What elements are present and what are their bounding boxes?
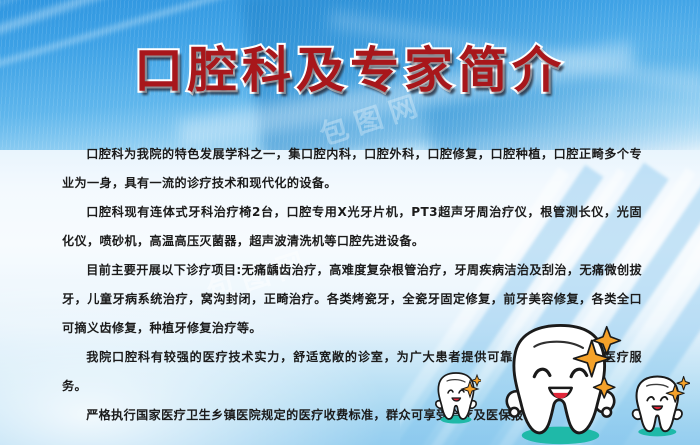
page-title: 口腔科及专家简介 [0,40,700,100]
poster-canvas: 包图网 包图网 口腔科及专家简介 口腔科及专家简介 口腔科为我院的特色发展学科之… [0,0,700,445]
big-tooth-center-icon [498,318,623,445]
paragraph-2: 口腔科现有连体式牙科治疗椅2台，口腔专用X光牙片机，PT3超声牙周治疗仪，根管测… [62,198,642,256]
small-tooth-left-icon [431,369,481,425]
small-tooth-right-icon [628,372,690,438]
paragraph-1: 口腔科为我院的特色发展学科之一，集口腔内科，口腔外科，口腔修复，口腔种植，口腔正… [62,140,642,198]
header-light-streak-3 [0,0,249,28]
